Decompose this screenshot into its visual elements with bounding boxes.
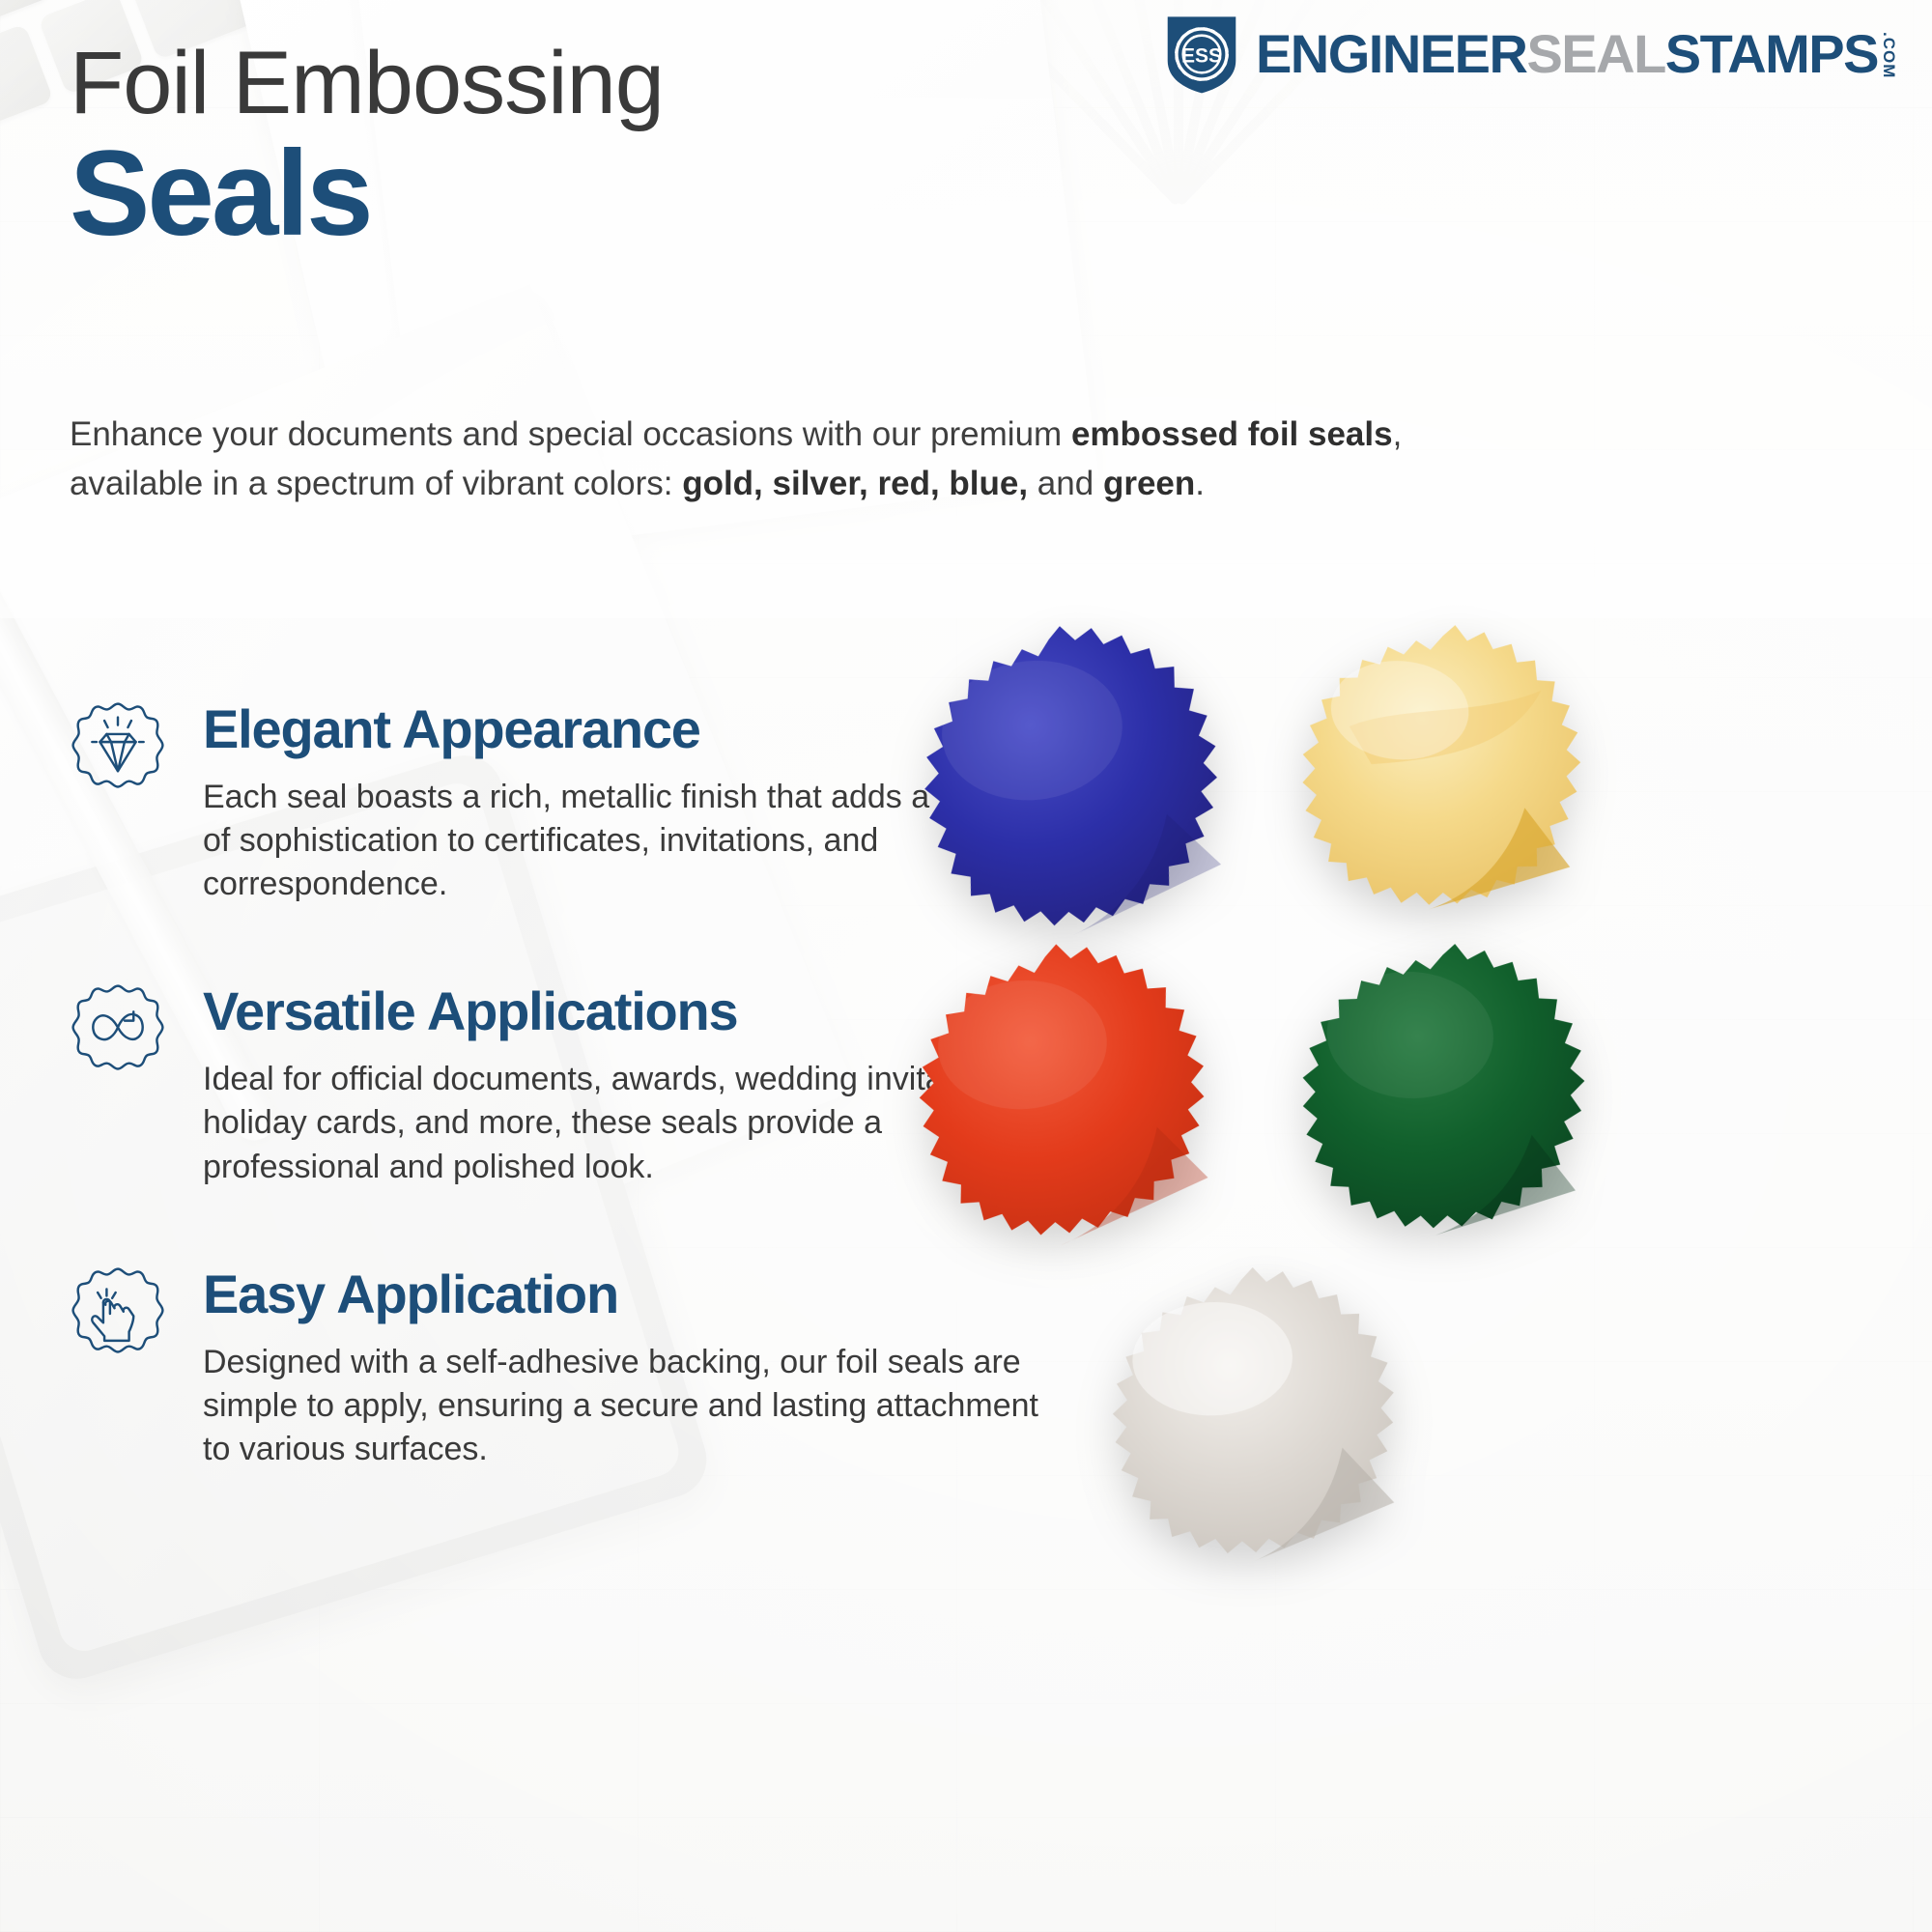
- intro-text-4: .: [1195, 465, 1205, 502]
- seal-green: [1257, 927, 1636, 1279]
- brand-logo[interactable]: ESS ENGINEER SEAL STAMPS .COM: [1161, 14, 1897, 95]
- wordmark-seal: SEAL: [1526, 27, 1664, 81]
- wordmark-stamps: STAMPS: [1665, 27, 1878, 81]
- intro-text-3: and: [1028, 465, 1103, 502]
- intro-bold-1: embossed foil seals: [1071, 415, 1393, 453]
- wordmark-dotcom: .COM: [1881, 32, 1897, 81]
- wordmark-engineer: ENGINEER: [1256, 27, 1527, 81]
- brand-wordmark: ENGINEER SEAL STAMPS .COM: [1256, 27, 1897, 81]
- intro-paragraph: Enhance your documents and special occas…: [70, 411, 1441, 509]
- ess-gear-shield-icon: ESS: [1161, 14, 1242, 95]
- tap-hand-icon: [62, 1264, 174, 1377]
- feature-item: Easy Application Designed with a self-ad…: [62, 1261, 1047, 1471]
- intro-bold-3: green: [1103, 465, 1195, 502]
- title-line-1: Foil Embossing: [70, 39, 664, 128]
- seal-gallery: [1043, 638, 1893, 1835]
- infographic-content: ESS ENGINEER SEAL STAMPS .COM Foil Embos…: [0, 0, 1932, 1932]
- page-title: Foil Embossing Seals: [70, 39, 664, 254]
- infinity-arrow-icon: [62, 981, 174, 1094]
- title-line-2: Seals: [70, 133, 664, 254]
- svg-text:ESS: ESS: [1181, 44, 1222, 67]
- diamond-icon: [62, 699, 174, 811]
- feature-description: Designed with a self-adhesive backing, o…: [203, 1341, 1047, 1472]
- intro-text-1: Enhance your documents and special occas…: [70, 415, 1071, 453]
- intro-bold-2: gold, silver, red, blue,: [682, 465, 1028, 502]
- seal-silver: [1076, 1255, 1440, 1601]
- seal-gold: [1255, 607, 1634, 959]
- seal-red: [877, 925, 1258, 1288]
